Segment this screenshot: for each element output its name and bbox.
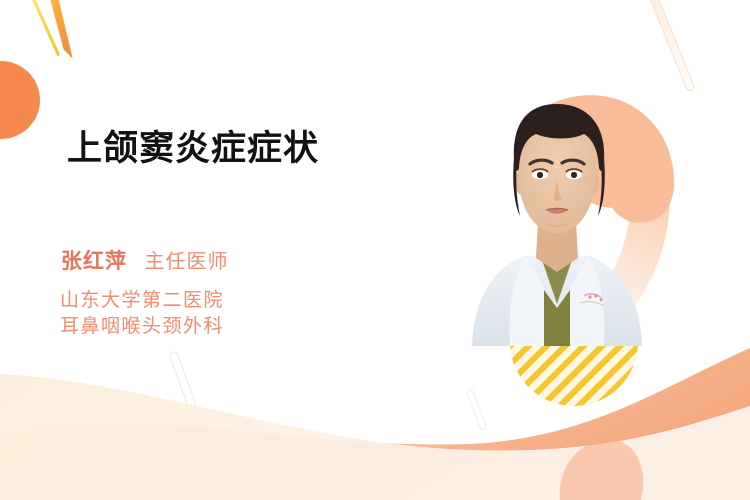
poster-canvas: 上颌窦炎症症状 张红萍 主任医师 山东大学第二医院 耳鼻咽喉头颈外科	[0, 0, 750, 500]
text-block: 上颌窦炎症症状 张红萍 主任医师 山东大学第二医院 耳鼻咽喉头颈外科	[0, 0, 430, 500]
crescent-arc-decoration	[498, 86, 750, 386]
doctor-professional-title: 主任医师	[144, 251, 228, 273]
doctor-affiliation: 山东大学第二医院 耳鼻咽喉头颈外科	[60, 288, 224, 340]
doctor-name: 张红萍	[61, 250, 127, 273]
faint-slash-decoration-top-right	[648, 0, 695, 92]
affiliation-hospital: 山东大学第二医院	[60, 288, 224, 314]
faint-slash-decoration-middle	[466, 389, 487, 431]
doctor-identity-line: 张红萍 主任医师	[61, 251, 228, 272]
page-title: 上颌窦炎症症状	[67, 120, 319, 171]
striped-circle-decoration	[510, 278, 638, 406]
doctor-portrait	[432, 96, 682, 346]
affiliation-department: 耳鼻咽喉头颈外科	[60, 314, 224, 340]
